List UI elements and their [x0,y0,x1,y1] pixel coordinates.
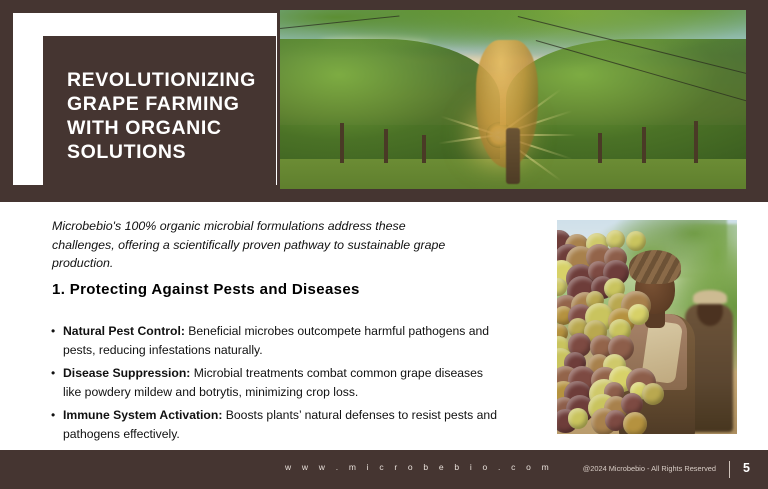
footer-website-url[interactable]: w w w . m i c r o b e b i o . c o m [285,462,553,472]
slide-body: Microbebio's 100% organic microbial form… [0,202,768,450]
side-farmer-image [557,220,737,434]
vine-post [340,123,344,163]
header-banner: REVOLUTIONIZING GRAPE FARMING WITH ORGAN… [0,0,768,202]
slide-canvas: REVOLUTIONIZING GRAPE FARMING WITH ORGAN… [0,0,768,489]
list-item: •Natural Pest Control: Beneficial microb… [48,322,498,359]
bullet-lead: Natural Pest Control: [63,324,185,338]
grape-berry [606,230,625,249]
footer-bar: w w w . m i c r o b e b i o . c o m @202… [0,450,768,489]
list-item: •Immune System Activation: Boosts plants… [48,406,498,443]
grape-berry [628,304,649,325]
grape-berry [626,231,646,251]
background-farmer-cap [693,290,727,304]
section-heading: 1. Protecting Against Pests and Diseases [52,281,360,298]
vine-trunk [506,128,520,184]
list-item: •Disease Suppression: Microbial treatmen… [48,364,498,401]
page-title: REVOLUTIONIZING GRAPE FARMING WITH ORGAN… [67,68,257,164]
grape-berry [568,408,589,429]
footer-copyright: @2024 Microbebio - All Rights Reserved [583,464,716,473]
bullet-marker: • [51,322,55,341]
vine-post [694,121,698,163]
footer-divider [729,461,730,478]
bullet-lead: Disease Suppression: [63,366,190,380]
bullet-marker: • [51,406,55,425]
vine-post [384,129,388,163]
title-box: REVOLUTIONIZING GRAPE FARMING WITH ORGAN… [43,36,276,188]
title-frame: REVOLUTIONIZING GRAPE FARMING WITH ORGAN… [13,13,277,185]
hero-vineyard-image [280,10,746,189]
vine-post [598,133,602,163]
page-number: 5 [743,461,750,475]
bullet-marker: • [51,364,55,383]
bullet-lead: Immune System Activation: [63,408,222,422]
intro-paragraph: Microbebio's 100% organic microbial form… [52,217,464,273]
bullet-list: •Natural Pest Control: Beneficial microb… [48,322,498,448]
vine-post [642,127,646,163]
grape-berry [623,412,647,434]
grape-bunch [557,228,649,434]
vine-post [422,135,426,163]
